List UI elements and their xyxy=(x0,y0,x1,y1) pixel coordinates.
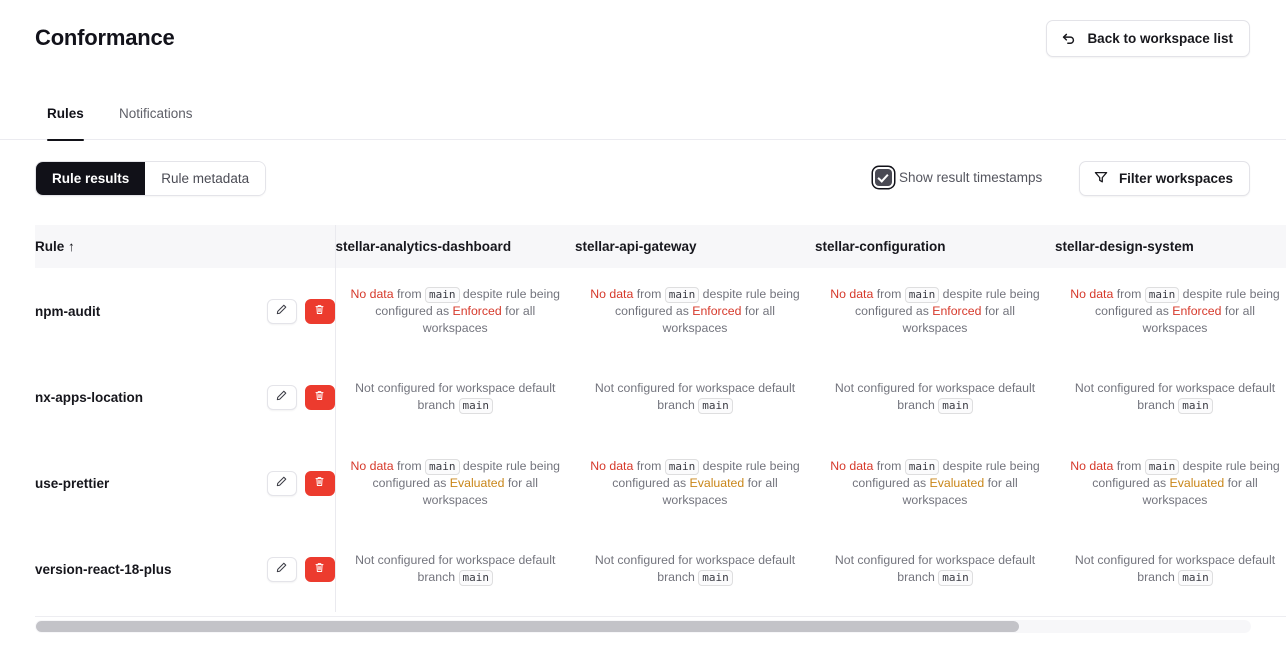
cell-text-from: from xyxy=(873,459,904,473)
cell-no-data-token: No data xyxy=(1070,459,1113,473)
result-cell: Not configured for workspace default bra… xyxy=(815,526,1055,612)
trash-icon xyxy=(313,303,326,319)
edit-pencil-icon xyxy=(275,561,288,577)
result-cell: Not configured for workspace default bra… xyxy=(815,354,1055,440)
cell-text-not-configured: Not configured for workspace default bra… xyxy=(835,553,1035,584)
branch-badge: main xyxy=(425,459,460,475)
result-cell: No data from main despite rule being con… xyxy=(1055,440,1286,526)
conformance-table: Rule ↑ stellar-analytics-dashboard stell… xyxy=(35,225,1286,612)
trash-icon xyxy=(313,389,326,405)
branch-badge: main xyxy=(698,398,733,414)
table-row: npm-auditNo data from main despite rule … xyxy=(35,268,1286,354)
result-cell: No data from main despite rule being con… xyxy=(575,440,815,526)
view-mode-segmented-control: Rule results Rule metadata xyxy=(35,161,266,196)
branch-badge: main xyxy=(1145,287,1180,303)
filter-button-label: Filter workspaces xyxy=(1119,171,1233,186)
segment-rule-metadata[interactable]: Rule metadata xyxy=(145,162,265,195)
rule-cell: npm-audit xyxy=(35,268,335,354)
cell-text-from: from xyxy=(394,459,425,473)
table-toolbar: Rule results Rule metadata Show result t… xyxy=(0,161,1286,199)
rule-actions xyxy=(267,557,335,582)
delete-rule-button[interactable] xyxy=(305,385,335,410)
rule-actions xyxy=(267,385,335,410)
rule-cell: use-prettier xyxy=(35,440,335,526)
branch-badge: main xyxy=(905,287,940,303)
cell-status-token: Evaluated xyxy=(450,476,505,490)
branch-badge: main xyxy=(1178,570,1213,586)
edit-rule-button[interactable] xyxy=(267,385,297,410)
column-header-workspace-1[interactable]: stellar-api-gateway xyxy=(575,225,815,268)
cell-text-from: from xyxy=(873,287,904,301)
table-row: version-react-18-plusNot configured for … xyxy=(35,526,1286,612)
conformance-page: Conformance Back to workspace list Rules… xyxy=(0,0,1286,667)
conformance-table-scroll-area[interactable]: Rule ↑ stellar-analytics-dashboard stell… xyxy=(35,225,1286,617)
rule-name: nx-apps-location xyxy=(35,390,143,405)
page-title: Conformance xyxy=(35,25,175,51)
back-arrow-icon xyxy=(1060,30,1077,47)
edit-pencil-icon xyxy=(275,303,288,319)
branch-badge: main xyxy=(905,459,940,475)
result-cell: No data from main despite rule being con… xyxy=(335,268,575,354)
table-row: use-prettierNo data from main despite ru… xyxy=(35,440,1286,526)
result-cell: No data from main despite rule being con… xyxy=(335,440,575,526)
result-cell: Not configured for workspace default bra… xyxy=(1055,354,1286,440)
trash-icon xyxy=(313,475,326,491)
show-result-timestamps-toggle[interactable]: Show result timestamps xyxy=(875,169,1042,186)
result-cell: No data from main despite rule being con… xyxy=(815,440,1055,526)
delete-rule-button[interactable] xyxy=(305,471,335,496)
column-header-workspace-2[interactable]: stellar-configuration xyxy=(815,225,1055,268)
cell-text-from: from xyxy=(394,287,425,301)
column-header-rule[interactable]: Rule ↑ xyxy=(35,225,335,268)
result-cell: No data from main despite rule being con… xyxy=(575,268,815,354)
result-cell: Not configured for workspace default bra… xyxy=(1055,526,1286,612)
sort-arrow-icon: ↑ xyxy=(68,239,75,254)
delete-rule-button[interactable] xyxy=(305,557,335,582)
branch-badge: main xyxy=(698,570,733,586)
back-to-workspace-list-button[interactable]: Back to workspace list xyxy=(1046,20,1250,57)
filter-workspaces-button[interactable]: Filter workspaces xyxy=(1079,161,1250,196)
cell-text-from: from xyxy=(1113,459,1144,473)
rule-name: npm-audit xyxy=(35,304,100,319)
rule-cell: nx-apps-location xyxy=(35,354,335,440)
result-cell: Not configured for workspace default bra… xyxy=(335,354,575,440)
cell-text-from: from xyxy=(1113,287,1144,301)
tab-rules[interactable]: Rules xyxy=(47,104,84,140)
filter-icon xyxy=(1093,169,1109,188)
branch-badge: main xyxy=(459,570,494,586)
result-cell: Not configured for workspace default bra… xyxy=(335,526,575,612)
cell-text-not-configured: Not configured for workspace default bra… xyxy=(835,381,1035,412)
branch-badge: main xyxy=(938,398,973,414)
column-header-workspace-0[interactable]: stellar-analytics-dashboard xyxy=(335,225,575,268)
cell-no-data-token: No data xyxy=(1070,287,1113,301)
rule-cell: version-react-18-plus xyxy=(35,526,335,612)
edit-rule-button[interactable] xyxy=(267,557,297,582)
tab-notifications[interactable]: Notifications xyxy=(119,104,193,140)
cell-text-from: from xyxy=(633,459,664,473)
branch-badge: main xyxy=(665,459,700,475)
tab-notifications-label: Notifications xyxy=(119,106,193,121)
table-body: npm-auditNo data from main despite rule … xyxy=(35,268,1286,612)
delete-rule-button[interactable] xyxy=(305,299,335,324)
cell-status-token: Evaluated xyxy=(690,476,745,490)
cell-text-not-configured: Not configured for workspace default bra… xyxy=(595,553,795,584)
edit-rule-button[interactable] xyxy=(267,471,297,496)
result-cell: No data from main despite rule being con… xyxy=(1055,268,1286,354)
cell-text-from: from xyxy=(633,287,664,301)
cell-status-token: Enforced xyxy=(932,304,981,318)
tab-rules-label: Rules xyxy=(47,106,84,121)
page-header: Conformance Back to workspace list xyxy=(0,0,1286,86)
edit-pencil-icon xyxy=(275,475,288,491)
cell-text-not-configured: Not configured for workspace default bra… xyxy=(595,381,795,412)
rule-name: version-react-18-plus xyxy=(35,562,172,577)
cell-status-token: Enforced xyxy=(1172,304,1221,318)
rule-actions xyxy=(267,299,335,324)
branch-badge: main xyxy=(1178,398,1213,414)
result-cell: Not configured for workspace default bra… xyxy=(575,354,815,440)
table-head: Rule ↑ stellar-analytics-dashboard stell… xyxy=(35,225,1286,268)
horizontal-scrollbar[interactable] xyxy=(35,620,1251,633)
back-button-label: Back to workspace list xyxy=(1087,31,1233,46)
table-header-row: Rule ↑ stellar-analytics-dashboard stell… xyxy=(35,225,1286,268)
edit-rule-button[interactable] xyxy=(267,299,297,324)
result-cell: Not configured for workspace default bra… xyxy=(575,526,815,612)
table-bottom-divider xyxy=(35,616,1286,617)
column-header-workspace-3[interactable]: stellar-design-system xyxy=(1055,225,1286,268)
branch-badge: main xyxy=(938,570,973,586)
cell-no-data-token: No data xyxy=(350,287,393,301)
cell-no-data-token: No data xyxy=(350,459,393,473)
cell-no-data-token: No data xyxy=(590,287,633,301)
cell-status-token: Evaluated xyxy=(930,476,985,490)
show-result-timestamps-checkbox[interactable] xyxy=(875,169,892,186)
cell-no-data-token: No data xyxy=(590,459,633,473)
column-header-rule-label: Rule xyxy=(35,239,64,254)
cell-status-token: Evaluated xyxy=(1170,476,1225,490)
tab-bar: Rules Notifications xyxy=(0,104,1286,140)
table-row: nx-apps-locationNot configured for works… xyxy=(35,354,1286,440)
trash-icon xyxy=(313,561,326,577)
cell-status-token: Enforced xyxy=(692,304,741,318)
show-result-timestamps-label: Show result timestamps xyxy=(899,170,1042,185)
cell-status-token: Enforced xyxy=(453,304,502,318)
cell-text-not-configured: Not configured for workspace default bra… xyxy=(1075,553,1275,584)
segment-rule-results[interactable]: Rule results xyxy=(36,162,145,195)
branch-badge: main xyxy=(665,287,700,303)
branch-badge: main xyxy=(425,287,460,303)
horizontal-scrollbar-thumb[interactable] xyxy=(36,621,1019,632)
cell-no-data-token: No data xyxy=(830,459,873,473)
cell-text-not-configured: Not configured for workspace default bra… xyxy=(355,553,555,584)
result-cell: No data from main despite rule being con… xyxy=(815,268,1055,354)
cell-text-not-configured: Not configured for workspace default bra… xyxy=(355,381,555,412)
branch-badge: main xyxy=(1145,459,1180,475)
cell-text-not-configured: Not configured for workspace default bra… xyxy=(1075,381,1275,412)
rule-actions xyxy=(267,471,335,496)
cell-no-data-token: No data xyxy=(830,287,873,301)
rule-name: use-prettier xyxy=(35,476,109,491)
edit-pencil-icon xyxy=(275,389,288,405)
branch-badge: main xyxy=(459,398,494,414)
